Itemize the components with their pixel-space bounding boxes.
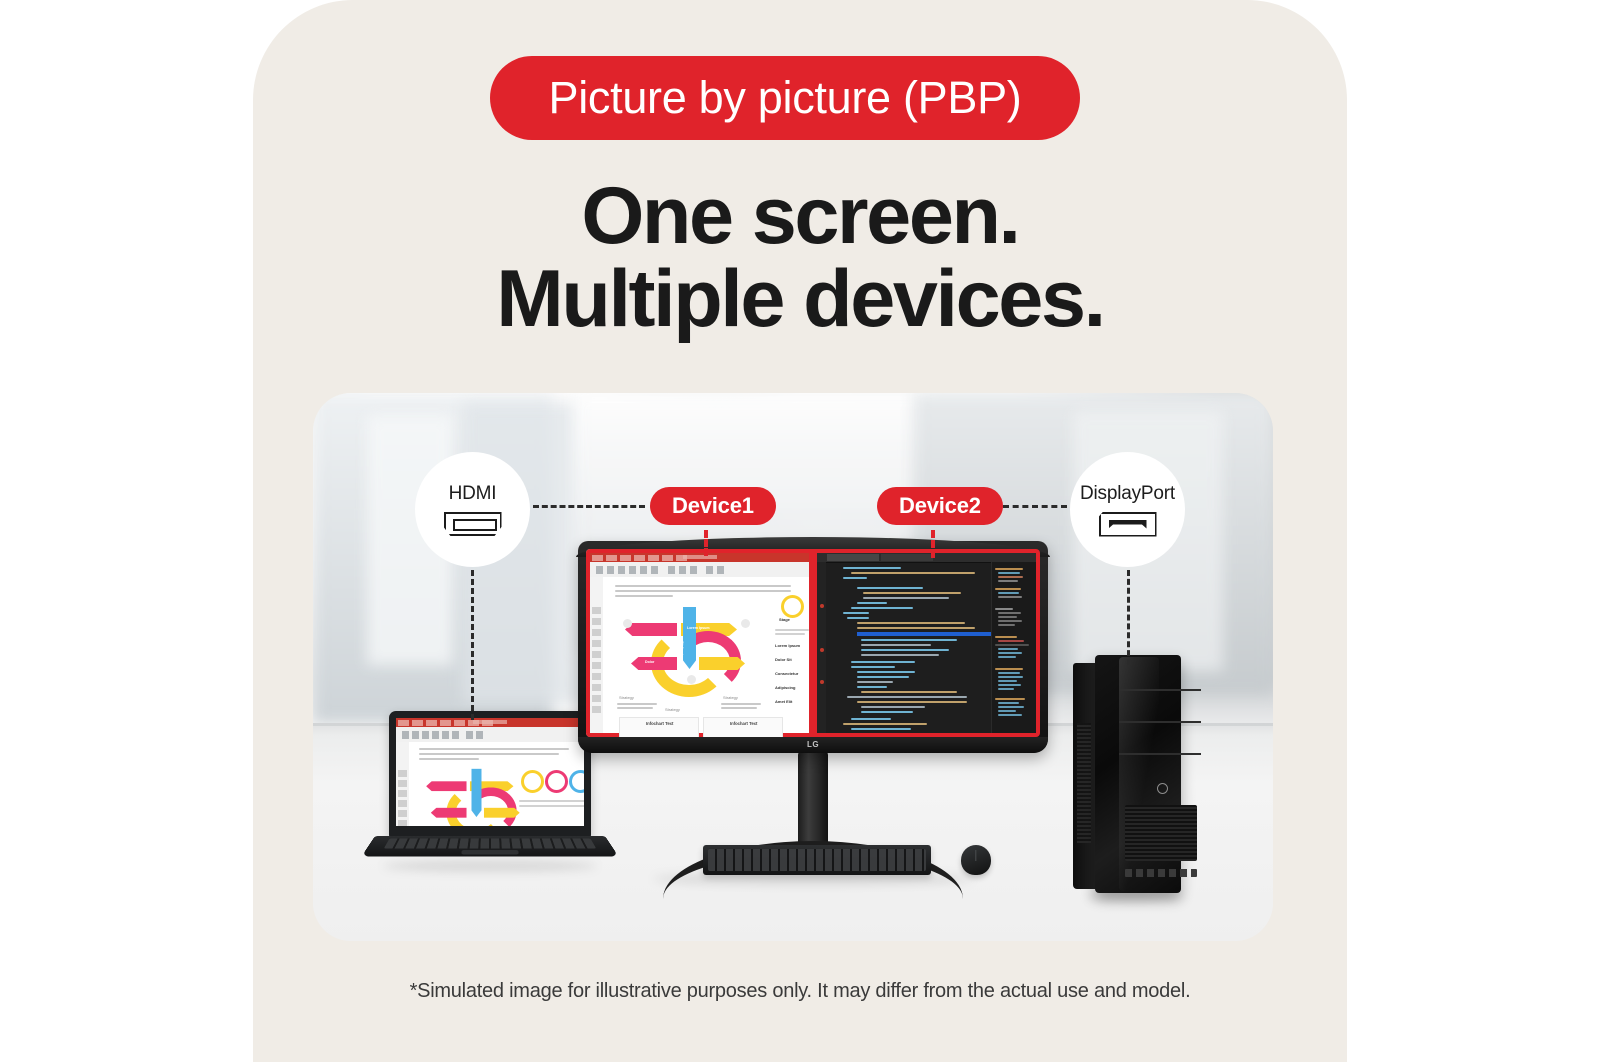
page-title: One screen. Multiple devices.	[253, 175, 1347, 340]
laptop-keys	[384, 838, 596, 848]
callout-displayport-label: DisplayPort	[1080, 483, 1175, 505]
laptop-shadow	[383, 861, 597, 871]
device2-badge: Device2	[877, 487, 1003, 525]
connector-hdmi-to-device1	[533, 505, 645, 508]
infographic-label-dolor: Dolor	[645, 660, 654, 664]
info-card-title: Infochart Text	[646, 721, 673, 726]
keyboard	[703, 845, 931, 875]
promo-banner: Picture by picture (PBP) One screen. Mul…	[0, 0, 1600, 1062]
laptop-keyboard-base	[361, 836, 619, 857]
selected-code-line	[857, 632, 991, 636]
strategy-label: Strategy	[665, 707, 680, 712]
screen-pane-device1: Lorem Ipsum Dolor Sit Amet Strategy Stra…	[586, 549, 813, 737]
headline-line-2: Multiple devices.	[253, 258, 1347, 341]
tower-front-panel	[1095, 655, 1181, 893]
info-card: Infochart Text 150	[703, 717, 783, 737]
monitor-stand-neck	[798, 751, 828, 855]
list-item: Adipiscing	[775, 685, 795, 690]
feature-badge-label: Picture by picture (PBP)	[549, 72, 1022, 124]
screen-pane-device2	[813, 549, 1040, 737]
laptop-device	[375, 711, 605, 881]
displayport-port-icon	[1099, 512, 1157, 537]
tower-front-vent	[1125, 805, 1197, 861]
stage-label: Stage	[779, 617, 790, 622]
device1-label: Device1	[672, 493, 754, 519]
ribbon-title	[473, 720, 507, 724]
device2-label: Device2	[899, 493, 981, 519]
desktop-tower-pc	[1073, 655, 1181, 897]
editor-minimap	[991, 562, 1036, 733]
connector-displayport-to-tower	[1127, 570, 1130, 665]
list-item: Dolor Sit	[775, 657, 792, 662]
footnote: *Simulated image for illustrative purpos…	[253, 980, 1347, 1003]
monitor-bezel: Lorem Ipsum Dolor Sit Amet Strategy Stra…	[578, 541, 1048, 753]
laptop-screen	[396, 718, 584, 826]
power-button-icon[interactable]	[1157, 783, 1168, 794]
headline-line-1: One screen.	[581, 171, 1018, 261]
mouse-scroll-divider	[975, 850, 976, 861]
slide-thumbnail-panel	[590, 577, 604, 733]
infographic-label-lorem: Lorem Ipsum	[687, 626, 710, 630]
slide-thumbnail-panel	[396, 742, 410, 826]
hdmi-port-icon	[444, 512, 502, 536]
app-toolbar	[396, 727, 584, 743]
list-item: Lorem Ipsum	[775, 643, 800, 648]
app-ribbon	[590, 553, 809, 562]
laptop-lid	[389, 711, 591, 837]
stage-donut	[781, 595, 804, 618]
infographic-diagram: Lorem Ipsum Dolor Sit Amet	[621, 601, 761, 689]
ribbon-title	[683, 555, 717, 559]
infographic-label-sit-amet: Sit Amet	[680, 641, 684, 655]
ribbon-tabs	[592, 555, 687, 561]
connector-device2-to-displayport	[1003, 505, 1067, 508]
connector-device1-to-pane	[704, 530, 708, 556]
feature-badge: Picture by picture (PBP)	[490, 56, 1080, 140]
list-item: Amet Elit	[775, 699, 792, 704]
arrow-yellow-lower	[699, 657, 745, 670]
tower-side-vent	[1077, 723, 1091, 843]
app-toolbar	[590, 562, 809, 578]
app-ribbon	[396, 718, 584, 727]
tower-front-ports	[1125, 869, 1197, 877]
info-card: Infochart Text 1000	[619, 717, 699, 737]
document-canvas	[409, 742, 584, 826]
callout-hdmi: HDMI	[415, 452, 530, 567]
monitor-screen: Lorem Ipsum Dolor Sit Amet Strategy Stra…	[586, 549, 1040, 737]
callout-hdmi-label: HDMI	[449, 483, 497, 505]
lg-logo: LG	[807, 740, 819, 749]
device1-badge: Device1	[650, 487, 776, 525]
strategy-label: Strategy	[619, 695, 634, 700]
arrow-blue-down	[683, 607, 696, 669]
list-item: Consectetur	[775, 671, 798, 676]
ultrawide-monitor: Lorem Ipsum Dolor Sit Amet Strategy Stra…	[578, 541, 1048, 771]
keyboard-keys	[708, 849, 926, 871]
tower-side-panel	[1073, 663, 1097, 889]
mouse	[961, 845, 991, 875]
connector-hdmi-to-laptop	[471, 570, 474, 720]
document-canvas: Lorem Ipsum Dolor Sit Amet Strategy Stra…	[603, 577, 809, 733]
info-card-title: Infochart Text	[730, 721, 757, 726]
editor-gutter	[817, 562, 826, 733]
callout-displayport: DisplayPort	[1070, 452, 1185, 567]
connector-device2-to-pane	[931, 530, 935, 558]
infographic-diagram	[423, 764, 532, 826]
strategy-label: Strategy	[723, 695, 738, 700]
laptop-trackpad	[461, 850, 519, 854]
